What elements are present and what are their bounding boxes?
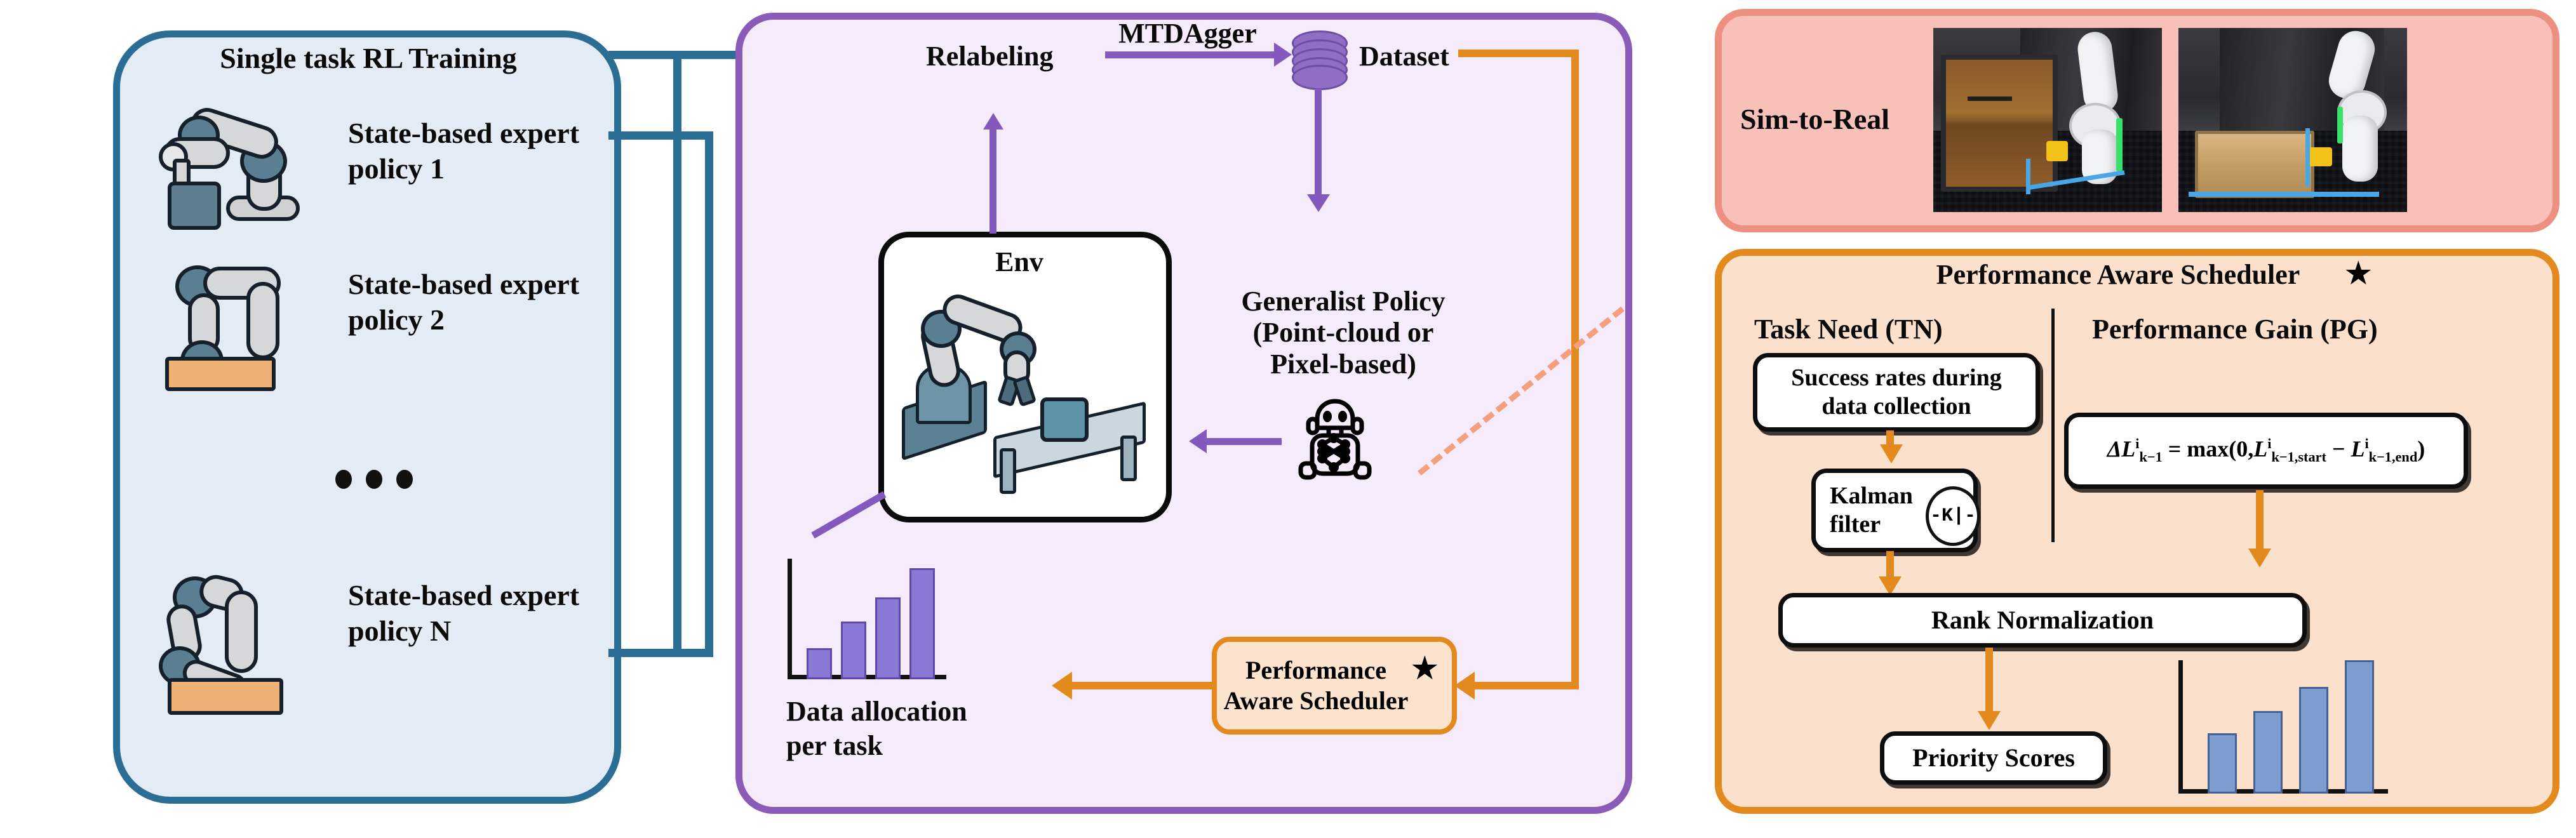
formula-lhs-sub: k−1 [2140, 449, 2163, 465]
ellipsis-dots [335, 470, 413, 489]
arrow-rank-to-priority-head [1978, 711, 2001, 730]
scheduler-box-star-icon: ★ [1410, 653, 1440, 686]
performance-gain-heading: Performance Gain (PG) [2092, 312, 2378, 347]
formula-t1-sub: k−1,start [2271, 449, 2326, 465]
column-divider [2051, 309, 2055, 542]
arrow-dataset-to-policy-head [1307, 194, 1330, 212]
formula-minus: − [2332, 436, 2345, 462]
formula-eq: = max(0, [2168, 436, 2254, 462]
formula-close: ) [2417, 436, 2425, 462]
arrow-policy-to-env-head [1189, 429, 1207, 453]
performance-gain-formula: ΔLik−1 = max(0,Lik−1,start − Lik−1,end) [2107, 436, 2425, 466]
rank-normalization-box[interactable]: Rank Normalization [1778, 593, 2307, 648]
orange-line-vertical [1571, 50, 1579, 686]
bar [807, 648, 832, 679]
bar [909, 568, 935, 679]
sim-to-real-photo-1 [1933, 28, 2162, 212]
dataset-cylinder-icon [1292, 30, 1344, 86]
data-allocation-chart [788, 559, 946, 679]
rank-normalization-label: Rank Normalization [1931, 605, 2154, 635]
orange-line-to-scheduler [1472, 682, 1579, 689]
expert-policy-2-label: State-based expert policy 2 [348, 267, 615, 338]
arrow-pg-to-rank-head [2248, 549, 2271, 568]
scheduler-panel-title: Performance Aware Scheduler [1753, 259, 2483, 290]
dataset-label: Dataset [1359, 39, 1449, 74]
robot-arm-illustration-1 [151, 107, 310, 227]
bar [875, 597, 901, 679]
bar [2208, 733, 2237, 794]
robot-arm-illustration-2 [151, 260, 310, 387]
orange-line-scheduler-to-allocation [1071, 682, 1212, 689]
task-need-heading: Task Need (TN) [1754, 312, 1943, 347]
connector-vertical-bus [673, 51, 681, 657]
bar [2345, 660, 2374, 794]
dot [366, 470, 382, 489]
env-label: Env [878, 246, 1160, 277]
kalman-icon-glyph: -K|- [1930, 505, 1976, 527]
arrow-policy-to-env-line [1207, 438, 1282, 445]
env-scene-illustration [897, 284, 1148, 494]
priority-scores-chart [2178, 660, 2388, 794]
generalist-policy-label: Generalist Policy (Point-cloud or Pixel-… [1226, 286, 1461, 380]
orange-arrow-to-allocation [1052, 672, 1072, 700]
dot [335, 470, 352, 489]
arrow-pg-to-rank-line [2256, 490, 2264, 554]
arrow-relabeling-to-dataset-head [1274, 43, 1292, 67]
arrow-dataset-to-policy-line [1315, 89, 1322, 197]
bar [841, 622, 866, 679]
success-rates-label: Success rates during data collection [1791, 364, 2001, 421]
expert-policy-1-label: State-based expert policy 1 [348, 116, 615, 187]
arrow-env-to-relabeling-line [989, 127, 996, 234]
orange-arrow-into-scheduler [1454, 672, 1475, 700]
kalman-filter-icon: -K|- [1926, 486, 1980, 546]
formula-t2-sub: k−1,end [2369, 449, 2418, 465]
arrow-relabeling-to-dataset-line [1105, 51, 1277, 58]
data-allocation-label: Data allocation per task [786, 695, 1053, 762]
kalman-filter-label: Kalman filter [1830, 482, 1913, 539]
priority-scores-label: Priority Scores [1912, 743, 2075, 773]
performance-gain-formula-box: ΔLik−1 = max(0,Lik−1,start − Lik−1,end) [2064, 413, 2468, 489]
sim-to-real-title: Sim-to-Real [1740, 102, 1889, 137]
scheduler-panel-star-icon: ★ [2344, 258, 2373, 291]
generalist-policy-robot-icon [1284, 392, 1386, 481]
sim-to-real-photo-2 [2178, 28, 2407, 212]
bar [2253, 711, 2283, 794]
connector-policyn-horizontal [608, 649, 705, 657]
expert-policy-n-label: State-based expert policy N [348, 578, 615, 649]
robot-arm-illustration-n [151, 571, 316, 711]
formula-t2-base: L [2351, 436, 2365, 462]
success-rates-box[interactable]: Success rates during data collection [1753, 353, 2040, 432]
priority-scores-box[interactable]: Priority Scores [1880, 731, 2107, 785]
relabeling-label: Relabeling [926, 39, 1053, 74]
orange-line-top [1458, 50, 1579, 57]
bar [2299, 687, 2328, 794]
arrow-rank-to-priority-line [1985, 648, 1993, 716]
connector-policy2-horizontal [608, 131, 705, 140]
arrow-success-to-kalman-line [1886, 430, 1894, 451]
left-panel-title: Single task RL Training [133, 42, 603, 75]
formula-t1-base: L [2253, 436, 2267, 462]
arrow-env-to-relabeling-head [983, 113, 1003, 130]
dot [396, 470, 413, 489]
connector-vertical-bus-inner [705, 131, 713, 657]
